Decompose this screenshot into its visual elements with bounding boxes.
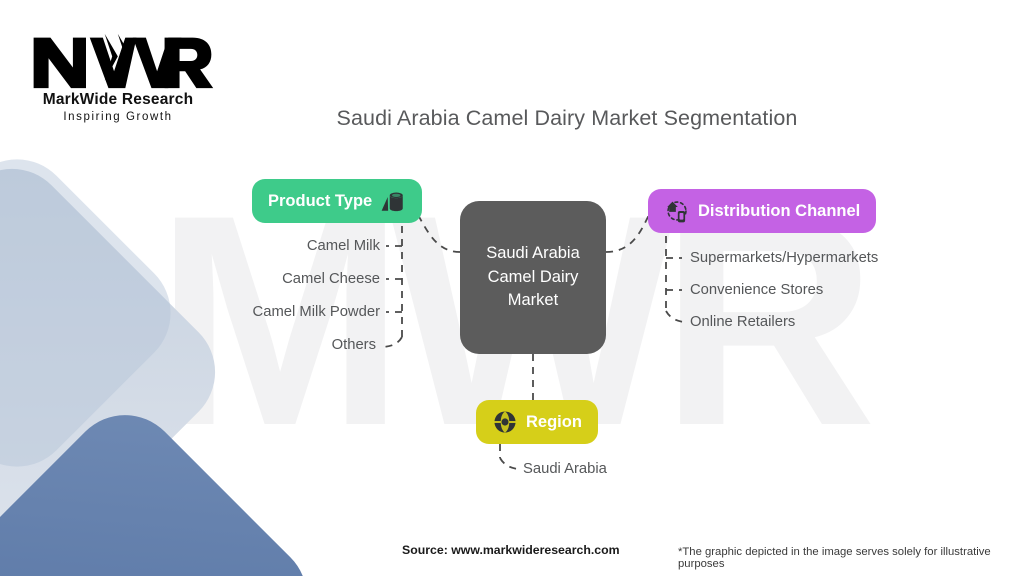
center-node-line-2: Camel Dairy xyxy=(488,268,579,286)
center-node[interactable]: Saudi Arabia Camel Dairy Market xyxy=(460,201,606,354)
branch-pill-product-type[interactable]: Product Type xyxy=(252,179,422,223)
leaf-product-type-2[interactable]: Camel Cheese xyxy=(180,271,380,287)
source-label: Source: www.markwideresearch.com xyxy=(402,543,620,557)
omnichannel-store-mobile-icon xyxy=(664,198,690,224)
tick-product-4 xyxy=(384,337,402,347)
tick-dist-3 xyxy=(666,311,684,322)
center-node-label: Saudi Arabia Camel Dairy Market xyxy=(486,242,580,313)
segmentation-infographic: MWR MarkWide Research Inspiring Growth S… xyxy=(0,0,1024,576)
leaf-distribution-channel-3[interactable]: Online Retailers xyxy=(690,314,795,330)
connector-center-distribution xyxy=(606,213,650,252)
branch-label-distribution-channel: Distribution Channel xyxy=(698,202,860,221)
disclaimer-label: *The graphic depicted in the image serve… xyxy=(678,546,1024,570)
leaf-product-type-3[interactable]: Camel Milk Powder xyxy=(180,304,380,320)
branch-label-region: Region xyxy=(526,413,582,432)
globe-icon xyxy=(492,409,518,435)
product-package-icon xyxy=(380,188,406,214)
leaf-distribution-channel-2[interactable]: Convenience Stores xyxy=(690,282,823,298)
branch-pill-region[interactable]: Region xyxy=(476,400,598,444)
leaf-product-type-1[interactable]: Camel Milk xyxy=(180,238,380,254)
center-node-line-1: Saudi Arabia xyxy=(486,244,580,262)
leaf-product-type-4[interactable]: Others xyxy=(180,337,376,353)
leaf-distribution-channel-1[interactable]: Supermarkets/Hypermarkets xyxy=(690,250,878,266)
leaf-region-1[interactable]: Saudi Arabia xyxy=(523,461,607,477)
branch-label-product-type: Product Type xyxy=(268,192,372,211)
tick-region-1 xyxy=(500,458,518,469)
branch-pill-distribution-channel[interactable]: Distribution Channel xyxy=(648,189,876,233)
center-node-line-3: Market xyxy=(508,291,558,309)
